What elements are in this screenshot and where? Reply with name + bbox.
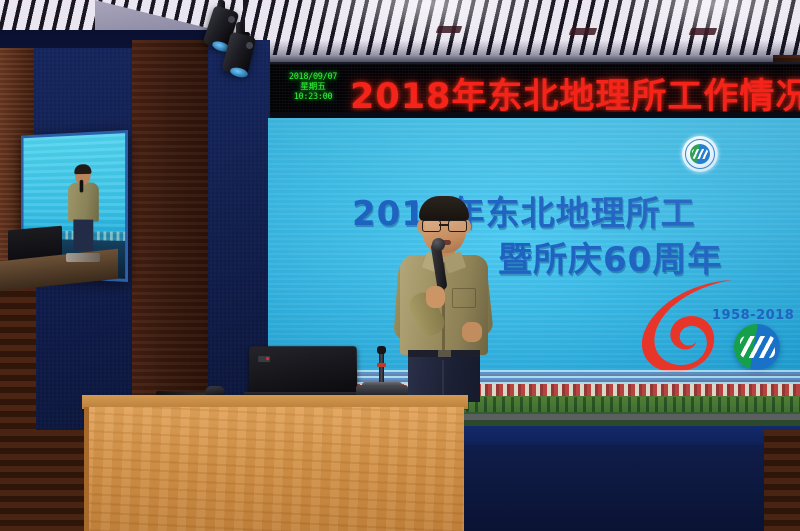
anniversary-years: 1958-2018 [712,308,794,323]
spotlight-knob-1 [228,16,235,23]
presenter-glasses-bridge [439,224,448,226]
ceiling-vent-3 [689,28,718,35]
presenter [392,200,496,400]
anniversary-swoosh-icon [636,278,740,374]
photo-scene: 2018/09/07 星期五 10:23:00 2018年东北地理所工作情况通报… [0,0,800,531]
wood-panel-column [132,40,208,445]
presenter-glasses-left-lens [422,220,441,232]
led-time: 10:23:00 [283,92,343,102]
ceiling-vent-1 [436,26,463,33]
laptop-brand-logo [258,356,270,362]
hanging-microphone-cable [243,0,245,34]
spotlight-knob-2 [246,42,253,49]
laptop[interactable] [249,346,358,398]
presenter-hand-left [426,286,445,308]
microphone-stand-pole [379,350,384,384]
side-desk-items [66,253,100,262]
presenter-hand-right [462,322,482,342]
ceiling-vent-2 [569,28,598,35]
aux-figure-legs [74,220,94,251]
presenter-glasses-right-lens [448,220,467,232]
microphone-stand-indicator [377,363,386,367]
anniversary-globe-wave [740,336,775,358]
presenter-shirt-pocket [452,288,476,308]
institute-logo-wave [692,149,708,159]
wood-panel-lower-right [764,430,800,531]
institute-globe-logo [682,136,718,172]
microphone-stand-head [377,346,386,354]
slide-headline-line2: 暨所庆60周年 [498,232,722,281]
presenter-desk-front [86,407,464,531]
aux-figure-hair [74,164,91,174]
desk-wood-grain [86,407,464,531]
desk-left-edge [84,407,89,531]
anniversary-globe-icon [734,324,780,370]
led-clock: 2018/09/07 星期五 10:23:00 [283,72,343,102]
led-headline: 2018年东北地理所工作情况通报 [350,68,800,118]
led-weekday: 星期五 [283,82,343,92]
institute-logo-globe [690,144,710,164]
anniversary-emblem: 1958-2018 [628,278,800,382]
presenter-hair [419,196,469,221]
microphone-capsule [432,238,445,251]
led-banner: 2018/09/07 星期五 10:23:00 2018年东北地理所工作情况通报 [270,62,800,118]
led-date: 2018/09/07 [283,72,343,82]
wood-lower-panel [0,285,36,445]
aux-figure-torso [68,183,99,222]
aux-figure-microphone [80,180,84,193]
wood-panel-lower-left [0,430,88,531]
